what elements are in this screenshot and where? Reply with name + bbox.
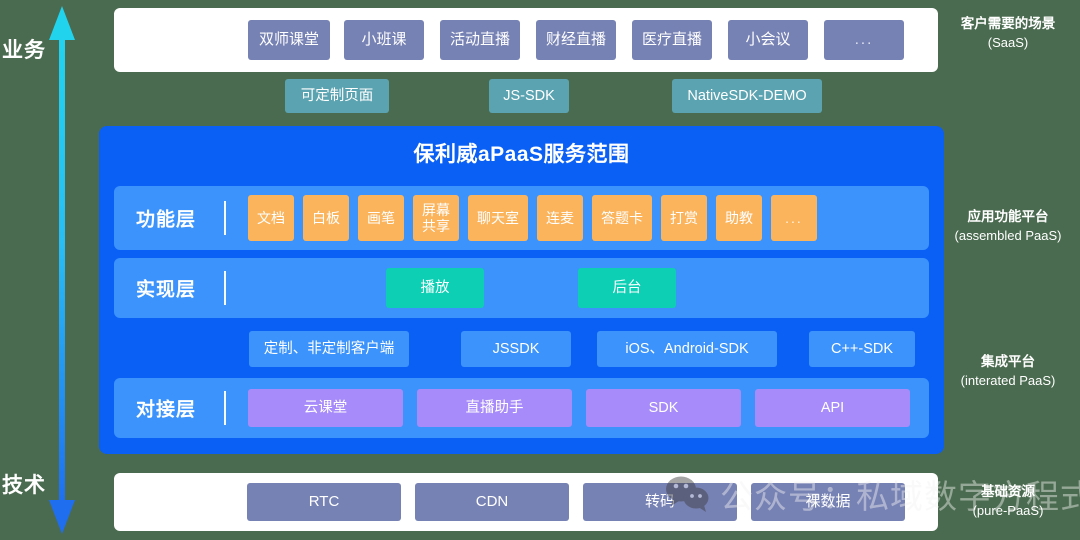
infrastructure-label: 转码 — [645, 493, 675, 510]
infrastructure-label: CDN — [476, 493, 509, 510]
side-caption-assembled-paas: 应用功能平台 (assembled PaaS) — [938, 207, 1078, 245]
side-caption-cn: 应用功能平台 — [938, 207, 1078, 227]
implementation-chip-0[interactable]: 播放 — [386, 268, 484, 308]
implementation-label: 后台 — [613, 280, 642, 297]
sdk-chip-0[interactable]: 定制、非定制客户端 — [249, 331, 409, 367]
function-chip-2[interactable]: 画笔 — [358, 195, 404, 241]
docking-chip-2[interactable]: SDK — [586, 389, 741, 427]
scenario-chip-1[interactable]: 小班课 — [344, 20, 424, 60]
apaas-service-panel: 保利威aPaaS服务范围 功能层 文档 白板 画笔 屏幕 共享 聊天室 连麦 答… — [99, 126, 944, 454]
scenario-label: 双师课堂 — [259, 31, 319, 48]
infrastructure-chip-1[interactable]: CDN — [415, 483, 569, 521]
docking-label: 直播助手 — [466, 400, 524, 417]
customization-chip-0[interactable]: 可定制页面 — [285, 79, 389, 113]
function-label: 屏幕 共享 — [422, 202, 450, 234]
scenario-label: 财经直播 — [546, 31, 606, 48]
scenario-label: 小会议 — [745, 31, 790, 48]
infrastructure-label: 裸数据 — [805, 493, 850, 510]
side-caption-en: (SaaS) — [938, 34, 1078, 53]
scenario-label: ... — [855, 31, 874, 48]
function-label: 聊天室 — [477, 210, 519, 226]
implementation-layer-band: 实现层 播放 后台 — [114, 258, 929, 318]
function-layer-items: 文档 白板 画笔 屏幕 共享 聊天室 连麦 答题卡 打赏 助教 ... — [248, 186, 921, 250]
sdk-chip-3[interactable]: C++-SDK — [809, 331, 915, 367]
axis-bottom-label: 技术 — [2, 469, 46, 499]
function-chip-8[interactable]: 助教 — [716, 195, 762, 241]
function-chip-7[interactable]: 打赏 — [661, 195, 707, 241]
function-layer-divider — [224, 201, 226, 235]
docking-chip-0[interactable]: 云课堂 — [248, 389, 403, 427]
infrastructure-chip-3[interactable]: 裸数据 — [751, 483, 905, 521]
customization-chip-2[interactable]: NativeSDK-DEMO — [672, 79, 822, 113]
scenario-chip-5[interactable]: 小会议 — [728, 20, 808, 60]
sdk-label: 定制、非定制客户端 — [264, 341, 395, 358]
function-chip-5[interactable]: 连麦 — [537, 195, 583, 241]
docking-chip-1[interactable]: 直播助手 — [417, 389, 572, 427]
sdk-label: JSSDK — [493, 341, 540, 358]
function-label: 打赏 — [670, 210, 698, 226]
sdk-chip-1[interactable]: JSSDK — [461, 331, 571, 367]
customization-label: JS-SDK — [503, 88, 555, 105]
docking-label: 云课堂 — [304, 400, 348, 417]
function-layer-band: 功能层 文档 白板 画笔 屏幕 共享 聊天室 连麦 答题卡 打赏 助教 ... — [114, 186, 929, 250]
scenario-label: 医疗直播 — [642, 31, 702, 48]
function-chip-1[interactable]: 白板 — [303, 195, 349, 241]
infrastructure-chip-0[interactable]: RTC — [247, 483, 401, 521]
function-label: 画笔 — [367, 210, 395, 226]
function-chip-4[interactable]: 聊天室 — [468, 195, 528, 241]
docking-chip-3[interactable]: API — [755, 389, 910, 427]
panel-title: 保利威aPaaS服务范围 — [99, 138, 944, 168]
function-label: 文档 — [257, 210, 285, 226]
function-chip-6[interactable]: 答题卡 — [592, 195, 652, 241]
docking-layer-items: 云课堂 直播助手 SDK API — [248, 378, 921, 438]
function-layer-name: 功能层 — [136, 205, 196, 232]
function-label: 助教 — [725, 210, 753, 226]
side-caption-en: (pure-PaaS) — [938, 502, 1078, 521]
side-caption-en: (assembled PaaS) — [938, 227, 1078, 246]
implementation-layer-divider — [224, 271, 226, 305]
implementation-chip-1[interactable]: 后台 — [578, 268, 676, 308]
function-chip-0[interactable]: 文档 — [248, 195, 294, 241]
side-caption-cn: 基础资源 — [938, 482, 1078, 502]
axis-top-label: 业务 — [2, 34, 46, 64]
side-caption-cn: 客户需要的场景 — [938, 14, 1078, 34]
function-chip-more[interactable]: ... — [771, 195, 817, 241]
diagram-root: 业务 技术 双师课堂 小班课 活动直播 财经直播 医疗直播 小会议 ... 可定… — [0, 0, 1080, 540]
sdk-label: iOS、Android-SDK — [625, 341, 748, 358]
docking-layer-band: 对接层 云课堂 直播助手 SDK API — [114, 378, 929, 438]
infrastructure-label: RTC — [309, 493, 340, 510]
function-chip-3[interactable]: 屏幕 共享 — [413, 195, 459, 241]
scenario-label: 小班课 — [361, 31, 406, 48]
scenario-label: 活动直播 — [450, 31, 510, 48]
side-caption-pure-paas: 基础资源 (pure-PaaS) — [938, 482, 1078, 520]
scenario-chip-3[interactable]: 财经直播 — [536, 20, 616, 60]
side-caption-saas: 客户需要的场景 (SaaS) — [938, 14, 1078, 52]
scenario-chip-more[interactable]: ... — [824, 20, 904, 60]
scenario-chip-0[interactable]: 双师课堂 — [248, 20, 330, 60]
function-label: 答题卡 — [601, 210, 643, 226]
scenario-chip-4[interactable]: 医疗直播 — [632, 20, 712, 60]
function-label: 连麦 — [546, 210, 574, 226]
side-caption-cn: 集成平台 — [938, 352, 1078, 372]
implementation-layer-name: 实现层 — [136, 275, 196, 302]
scenario-chip-2[interactable]: 活动直播 — [440, 20, 520, 60]
function-label: 白板 — [312, 210, 340, 226]
customization-label: NativeSDK-DEMO — [687, 88, 806, 105]
sdk-chip-2[interactable]: iOS、Android-SDK — [597, 331, 777, 367]
customization-label: 可定制页面 — [301, 88, 374, 105]
docking-label: API — [821, 400, 844, 417]
vertical-gradient-arrow-icon — [48, 6, 76, 534]
docking-label: SDK — [649, 400, 679, 417]
side-caption-en: (interated PaaS) — [938, 372, 1078, 391]
infrastructure-chip-2[interactable]: 转码 — [583, 483, 737, 521]
scenarios-card — [114, 8, 938, 72]
sdk-label: C++-SDK — [831, 341, 893, 358]
docking-layer-divider — [224, 391, 226, 425]
side-caption-interated-paas: 集成平台 (interated PaaS) — [938, 352, 1078, 390]
docking-layer-name: 对接层 — [136, 395, 196, 422]
customization-chip-1[interactable]: JS-SDK — [489, 79, 569, 113]
implementation-label: 播放 — [421, 280, 450, 297]
function-label: ... — [785, 210, 803, 226]
